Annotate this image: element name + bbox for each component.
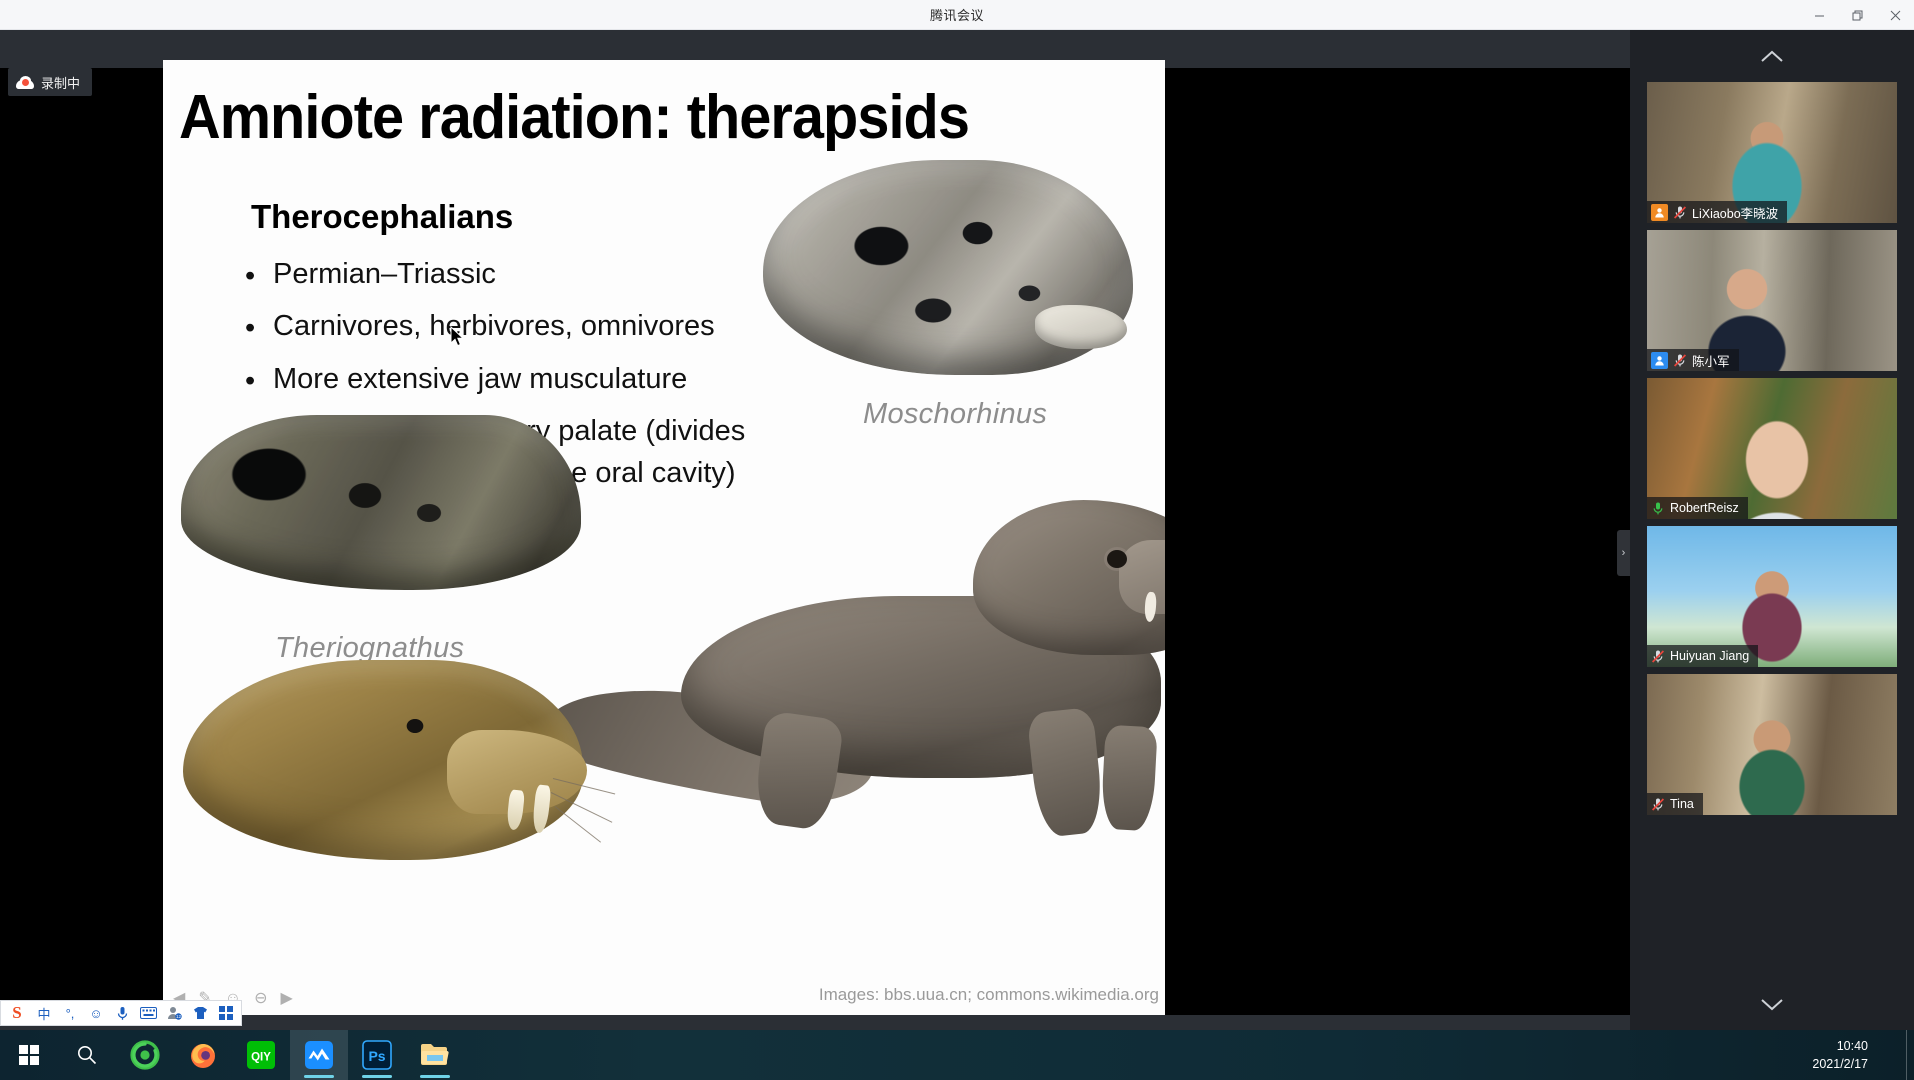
bullet-dot-icon: • bbox=[245, 253, 257, 297]
search-icon bbox=[76, 1044, 98, 1066]
participant-name: RobertReisz bbox=[1670, 501, 1739, 515]
window-title: 腾讯会议 bbox=[0, 5, 1914, 24]
minimize-button[interactable] bbox=[1800, 0, 1838, 30]
microphone-muted-icon bbox=[1651, 797, 1665, 812]
collapse-panel-button[interactable]: › bbox=[1617, 530, 1630, 576]
taskbar-photoshop[interactable]: Ps bbox=[348, 1030, 406, 1080]
microphone-muted-icon bbox=[1651, 649, 1665, 664]
ime-toolbar[interactable]: S 中 °, ☺ 12 bbox=[0, 1000, 242, 1026]
scroll-down-button[interactable] bbox=[1630, 978, 1914, 1030]
host-badge-icon bbox=[1651, 204, 1668, 221]
svg-text:QIY: QIY bbox=[251, 1052, 271, 1064]
video-tile-active-speaker[interactable]: RobertReisz bbox=[1647, 378, 1897, 519]
ime-soft-keyboard-icon[interactable] bbox=[137, 1002, 159, 1024]
video-tile[interactable]: Tina bbox=[1647, 674, 1897, 815]
ime-user-icon[interactable]: 12 bbox=[163, 1002, 185, 1024]
close-button[interactable] bbox=[1876, 0, 1914, 30]
tencent-meeting-window: 腾讯会议 bbox=[0, 0, 1914, 1080]
taskbar-iqiyi[interactable]: QIY bbox=[232, 1030, 290, 1080]
participant-badge-icon bbox=[1651, 352, 1668, 369]
participant-name: 陈小军 bbox=[1692, 351, 1730, 370]
participant-nameplate: Tina bbox=[1647, 793, 1703, 815]
next-slide-button[interactable]: ▶ bbox=[280, 991, 292, 1007]
clock-date: 2021/2/17 bbox=[1812, 1055, 1868, 1073]
recording-indicator[interactable]: 录制中 bbox=[8, 68, 92, 96]
bullet-dot-icon: • bbox=[245, 358, 257, 402]
list-item: • Carnivores, herbivores, omnivores bbox=[245, 305, 775, 349]
bullet-dot-icon: • bbox=[245, 305, 257, 349]
video-tile[interactable]: 陈小军 bbox=[1647, 230, 1897, 371]
list-item: • Permian–Triassic bbox=[245, 253, 775, 297]
svg-text:Ps: Ps bbox=[368, 1048, 385, 1064]
artwork-foreleg-far bbox=[1100, 725, 1157, 832]
folder-icon bbox=[420, 1042, 450, 1068]
sogou-logo-icon[interactable]: S bbox=[5, 1002, 29, 1024]
participant-nameplate: 陈小军 bbox=[1647, 349, 1739, 371]
meeting-body: 录制中 Amniote radiation: therapsids Theroc… bbox=[0, 30, 1914, 1030]
taskbar-clock[interactable]: 10:40 2021/2/17 bbox=[1812, 1030, 1868, 1080]
bullet-text: More extensive jaw musculature bbox=[273, 358, 775, 402]
show-desktop-button[interactable] bbox=[1906, 1030, 1914, 1080]
bullet-text: Permian–Triassic bbox=[273, 253, 775, 297]
photoshop-icon: Ps bbox=[362, 1040, 392, 1070]
taskbar-search-button[interactable] bbox=[58, 1030, 116, 1080]
moschorhinus-label: Moschorhinus bbox=[863, 398, 1047, 431]
presentation-slide: Amniote radiation: therapsids Therocepha… bbox=[163, 60, 1165, 1015]
artwork-snout bbox=[1119, 540, 1165, 614]
ime-voice-input-icon[interactable] bbox=[111, 1002, 133, 1024]
microphone-muted-icon bbox=[1673, 353, 1687, 368]
participant-nameplate: RobertReisz bbox=[1647, 497, 1748, 519]
microphone-active-icon bbox=[1651, 501, 1665, 516]
image-credits: Images: bbs.uua.cn; commons.wikimedia.or… bbox=[819, 985, 1159, 1005]
bullet-text: Carnivores, herbivores, omnivores bbox=[273, 305, 775, 349]
video-tile[interactable]: Huiyuan Jiang bbox=[1647, 526, 1897, 667]
moschorhinus-skull-photo bbox=[763, 160, 1133, 375]
taskbar-tencent-meeting[interactable] bbox=[290, 1030, 348, 1080]
microphone-muted-icon bbox=[1673, 205, 1687, 220]
artwork-foreleg bbox=[1027, 707, 1106, 838]
participant-nameplate: LiXiaobo李晓波 bbox=[1647, 201, 1787, 223]
windows-logo-icon bbox=[19, 1045, 40, 1066]
ime-emoji-icon[interactable]: ☺ bbox=[85, 1002, 107, 1024]
recording-label: 录制中 bbox=[41, 73, 80, 92]
artwork-canine bbox=[1144, 592, 1157, 623]
ime-skin-icon[interactable] bbox=[189, 1002, 211, 1024]
artwork-eye bbox=[1107, 550, 1127, 568]
ime-toolbox-icon[interactable] bbox=[215, 1002, 237, 1024]
participant-name: Huiyuan Jiang bbox=[1670, 649, 1749, 663]
svg-text:12: 12 bbox=[175, 1014, 181, 1019]
iqiyi-icon: QIY bbox=[246, 1040, 276, 1070]
taskbar-firefox[interactable] bbox=[174, 1030, 232, 1080]
video-tile[interactable]: LiXiaobo李晓波 bbox=[1647, 82, 1897, 223]
artwork-tusk bbox=[506, 789, 525, 830]
therocephalian-restoration-artwork bbox=[563, 500, 1165, 860]
maximize-restore-button[interactable] bbox=[1838, 0, 1876, 30]
participants-rail: LiXiaobo李晓波 bbox=[1630, 30, 1914, 1030]
start-button[interactable] bbox=[0, 1030, 58, 1080]
slide-title: Amniote radiation: therapsids bbox=[179, 87, 1086, 149]
taskbar-file-explorer[interactable] bbox=[406, 1030, 464, 1080]
slide-subheading: Therocephalians bbox=[251, 198, 513, 236]
clock-time: 10:40 bbox=[1837, 1037, 1868, 1055]
participant-name: LiXiaobo李晓波 bbox=[1692, 203, 1778, 222]
ime-punctuation-mode[interactable]: °, bbox=[59, 1002, 81, 1024]
video-tiles: LiXiaobo李晓波 bbox=[1647, 82, 1897, 978]
taskbar-360-browser[interactable] bbox=[116, 1030, 174, 1080]
artwork-hindleg bbox=[752, 710, 845, 832]
dicynodont-restoration-artwork bbox=[183, 660, 583, 860]
360-browser-icon bbox=[130, 1040, 160, 1070]
participant-nameplate: Huiyuan Jiang bbox=[1647, 645, 1758, 667]
cloud-recording-icon bbox=[16, 76, 34, 89]
theriognathus-skull-photo bbox=[181, 415, 581, 590]
windows-taskbar: QIY Ps 10:40 2021/2/17 bbox=[0, 1030, 1914, 1080]
participant-name: Tina bbox=[1670, 797, 1694, 811]
window-controls bbox=[1800, 0, 1914, 30]
window-titlebar: 腾讯会议 bbox=[0, 0, 1914, 30]
artwork-head bbox=[973, 500, 1165, 655]
ime-language-mode[interactable]: 中 bbox=[33, 1002, 55, 1024]
scroll-up-button[interactable] bbox=[1630, 30, 1914, 82]
tencent-meeting-icon bbox=[304, 1040, 334, 1070]
list-item: • More extensive jaw musculature bbox=[245, 358, 775, 402]
firefox-icon bbox=[188, 1040, 218, 1070]
eraser-tool-icon[interactable]: ⊖ bbox=[254, 991, 267, 1007]
shared-screen-stage: 录制中 Amniote radiation: therapsids Theroc… bbox=[0, 30, 1630, 1030]
